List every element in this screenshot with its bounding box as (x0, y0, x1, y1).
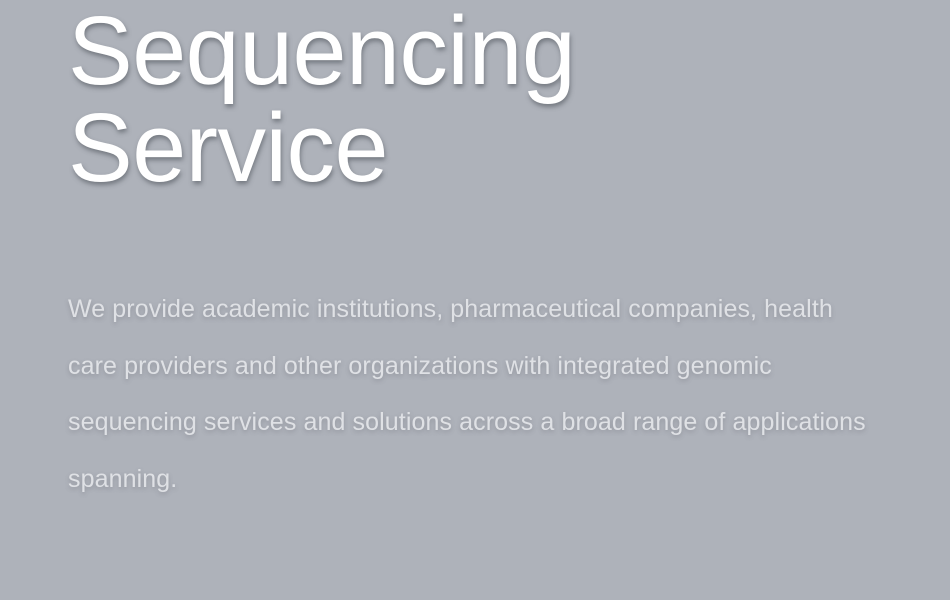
hero-section: Sequencing Service We provide academic i… (0, 0, 950, 600)
page-title: Sequencing Service (68, 2, 628, 196)
hero-description: We provide academic institutions, pharma… (68, 281, 886, 507)
